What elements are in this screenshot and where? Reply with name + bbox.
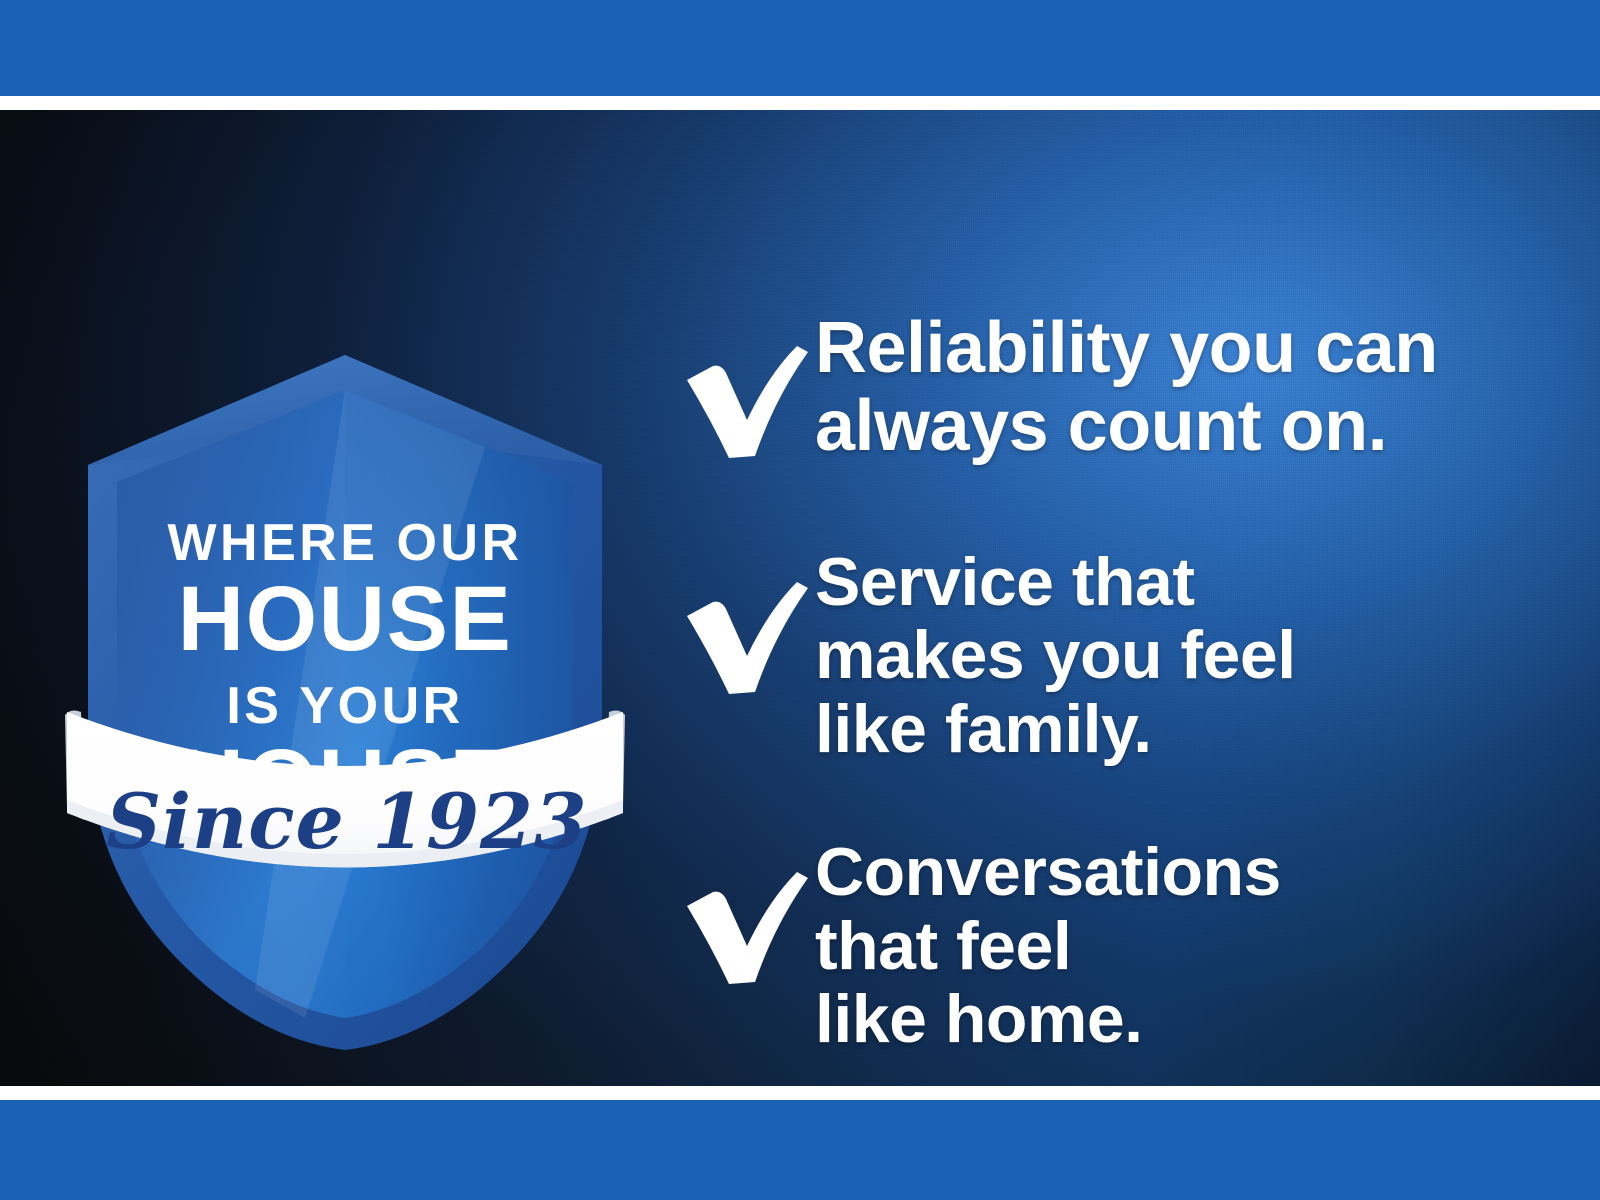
list-item-text: Service that makes you feel like family.: [815, 546, 1545, 766]
benefits-list: Reliability you can always count on. Ser…: [665, 310, 1545, 1057]
top-brand-bar: [0, 0, 1600, 96]
checkmark-icon: [665, 328, 815, 468]
shield-line-1: WHERE OUR: [167, 514, 522, 572]
main-canvas: WHERE OUR HOUSE IS YOUR HOUSE Sin: [0, 110, 1600, 1086]
top-divider-strip: [0, 96, 1600, 110]
ribbon-text: Since 1923: [106, 777, 588, 866]
checkmark-icon: [665, 854, 815, 994]
list-item-text: Reliability you can always count on.: [815, 310, 1545, 466]
list-item-text: Conversations that feel like home.: [815, 836, 1545, 1056]
shield-line-3: IS YOUR: [226, 677, 463, 735]
list-item: Service that makes you feel like family.: [665, 546, 1545, 766]
bottom-divider-strip: [0, 1086, 1600, 1100]
checkmark-icon: [665, 564, 815, 704]
bottom-brand-bar: [0, 1100, 1600, 1200]
shield-emblem: WHERE OUR HOUSE IS YOUR HOUSE Sin: [55, 260, 635, 1050]
promo-graphic: WHERE OUR HOUSE IS YOUR HOUSE Sin: [0, 0, 1600, 1200]
shield-line-2: HOUSE: [178, 568, 513, 670]
list-item: Conversations that feel like home.: [665, 836, 1545, 1056]
list-item: Reliability you can always count on.: [665, 310, 1545, 468]
